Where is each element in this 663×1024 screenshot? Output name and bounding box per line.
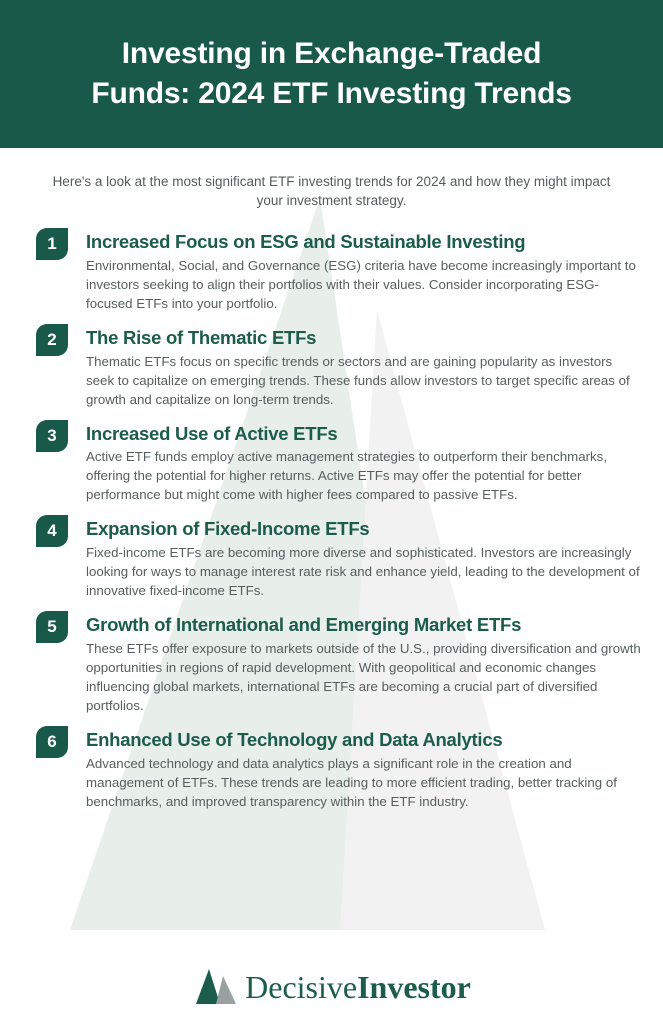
trend-body-5: Growth of International and Emerging Mar… xyxy=(36,611,641,715)
intro-paragraph: Here's a look at the most significant ET… xyxy=(0,148,663,210)
trend-heading-5: Growth of International and Emerging Mar… xyxy=(86,611,641,639)
trend-heading-1: Increased Focus on ESG and Sustainable I… xyxy=(86,228,641,256)
trend-heading-2: The Rise of Thematic ETFs xyxy=(86,324,641,352)
trend-number-badge-3: 3 xyxy=(36,420,68,452)
trend-heading-3: Increased Use of Active ETFs xyxy=(86,420,641,448)
main-content: Here's a look at the most significant ET… xyxy=(0,148,663,822)
trend-text-5: These ETFs offer exposure to markets out… xyxy=(86,639,641,715)
trend-text-3: Active ETF funds employ active managemen… xyxy=(86,447,641,504)
trend-number-badge-6: 6 xyxy=(36,726,68,758)
trend-text-4: Fixed-income ETFs are becoming more dive… xyxy=(86,543,641,600)
footer-logo: DecisiveInvestor xyxy=(0,968,663,1006)
infographic-page: Investing in Exchange-Traded Funds: 2024… xyxy=(0,0,663,1024)
trend-body-1: Increased Focus on ESG and Sustainable I… xyxy=(36,228,641,313)
trend-body-3: Increased Use of Active ETFs Active ETF … xyxy=(36,420,641,505)
trend-item-3: 3 Increased Use of Active ETFs Active ET… xyxy=(0,420,663,505)
logo-word-investor: Investor xyxy=(357,969,471,1005)
trend-text-2: Thematic ETFs focus on specific trends o… xyxy=(86,352,641,409)
header-band: Investing in Exchange-Traded Funds: 2024… xyxy=(0,0,663,148)
trend-number-badge-4: 4 xyxy=(36,515,68,547)
trend-body-2: The Rise of Thematic ETFs Thematic ETFs … xyxy=(36,324,641,409)
trend-heading-4: Expansion of Fixed-Income ETFs xyxy=(86,515,641,543)
trend-list: 1 Increased Focus on ESG and Sustainable… xyxy=(0,210,663,810)
trend-item-2: 2 The Rise of Thematic ETFs Thematic ETF… xyxy=(0,324,663,409)
trend-body-6: Enhanced Use of Technology and Data Anal… xyxy=(36,726,641,811)
trend-item-1: 1 Increased Focus on ESG and Sustainable… xyxy=(0,228,663,313)
page-title-line-1: Investing in Exchange-Traded xyxy=(91,34,571,74)
logo-peak-left xyxy=(196,969,220,1004)
trend-item-6: 6 Enhanced Use of Technology and Data An… xyxy=(0,726,663,811)
trend-body-4: Expansion of Fixed-Income ETFs Fixed-inc… xyxy=(36,515,641,600)
trend-heading-6: Enhanced Use of Technology and Data Anal… xyxy=(86,726,641,754)
trend-number-badge-5: 5 xyxy=(36,611,68,643)
trend-number-badge-2: 2 xyxy=(36,324,68,356)
trend-text-6: Advanced technology and data analytics p… xyxy=(86,754,641,811)
logo-word-decisive: Decisive xyxy=(245,969,357,1005)
page-title-line-2: Funds: 2024 ETF Investing Trends xyxy=(91,74,571,114)
logo-peak-right xyxy=(216,976,236,1004)
trend-item-4: 4 Expansion of Fixed-Income ETFs Fixed-i… xyxy=(0,515,663,600)
trend-item-5: 5 Growth of International and Emerging M… xyxy=(0,611,663,715)
trend-text-1: Environmental, Social, and Governance (E… xyxy=(86,256,641,313)
logo-wordmark: DecisiveInvestor xyxy=(245,971,471,1003)
trend-number-badge-1: 1 xyxy=(36,228,68,260)
page-title: Investing in Exchange-Traded Funds: 2024… xyxy=(69,34,593,114)
mountain-peaks-logo-icon xyxy=(192,968,238,1006)
